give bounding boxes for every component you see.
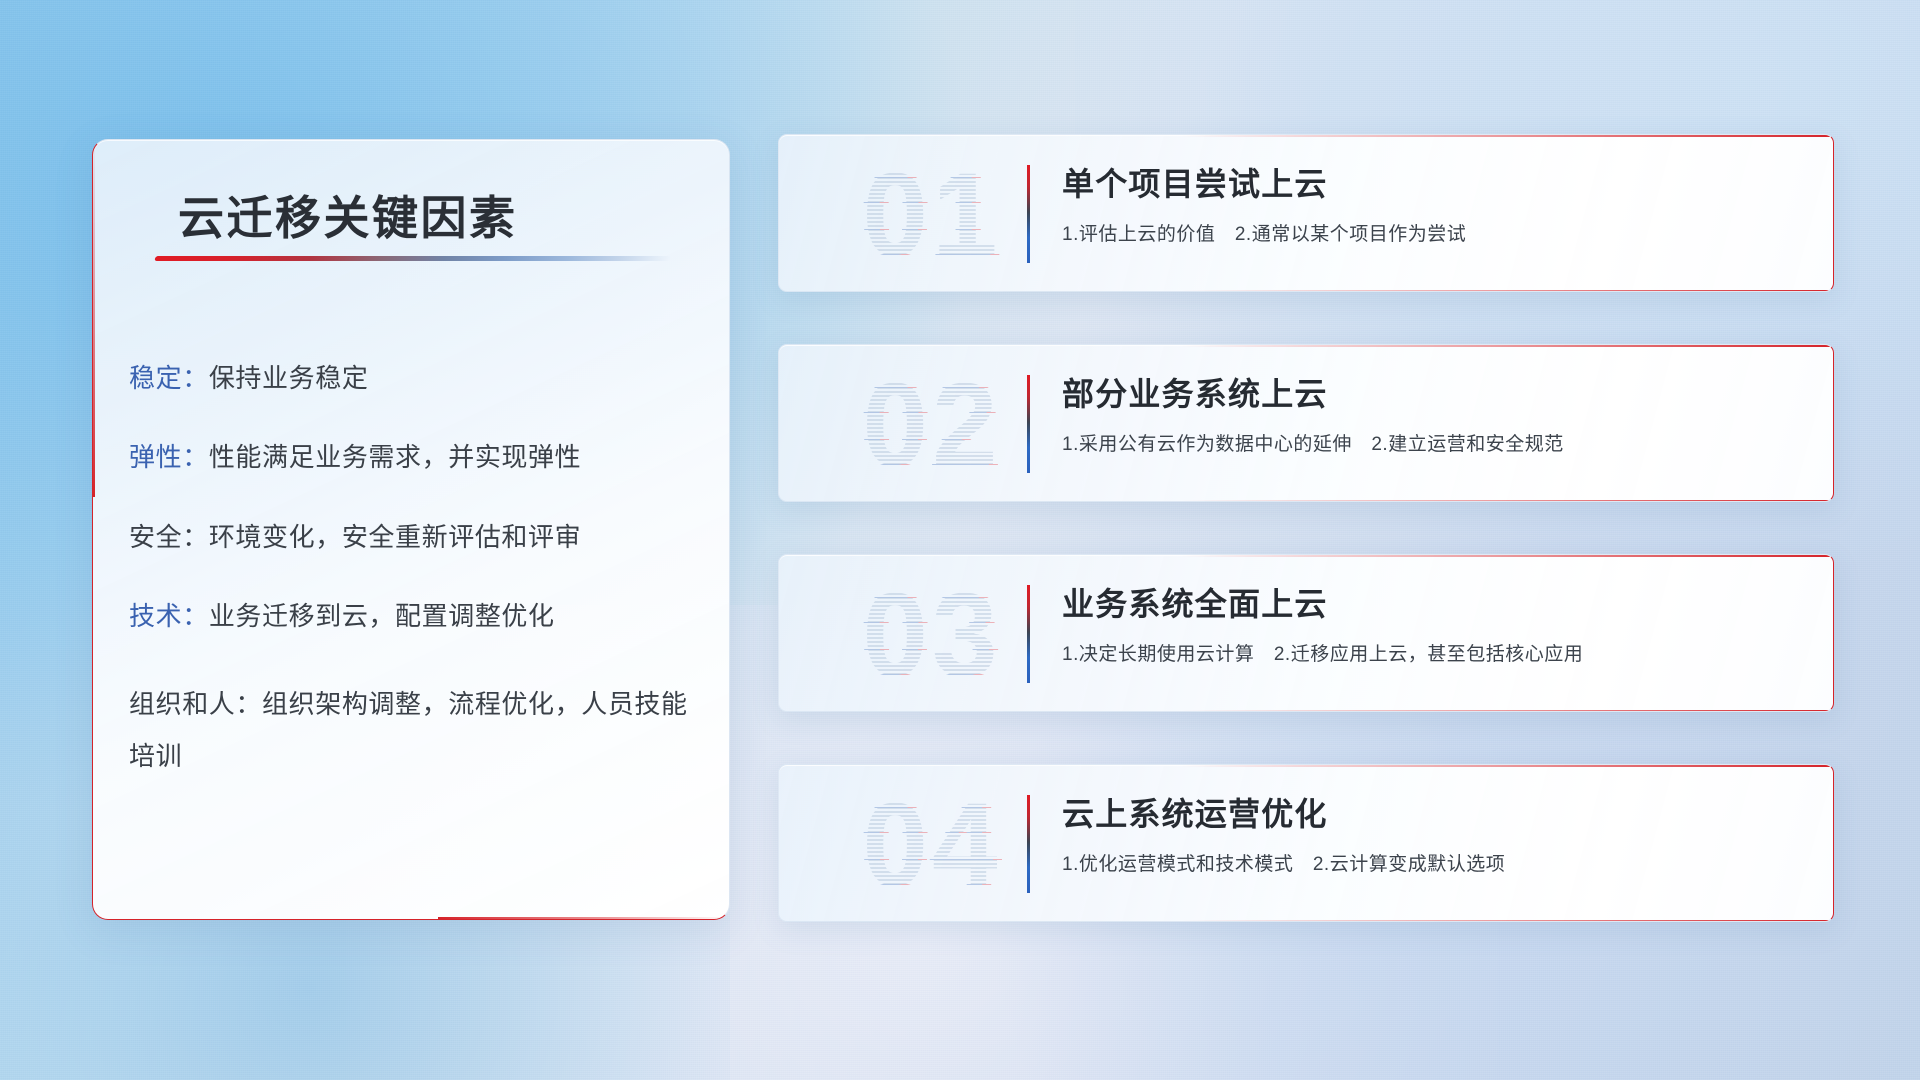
factor-item-elasticity: 弹性：性能满足业务需求，并实现弹性 [129,441,699,474]
factor-value: 保持业务稳定 [209,363,369,393]
step-number-ghost-blue: 03 [803,561,1053,709]
step-number-ghost-blue: 02 [803,351,1053,499]
step-divider-bar [1027,795,1030,893]
step-number-watermark-02: 02 02 02 [807,351,1057,499]
step-content: 云上系统运营优化 1.优化运营模式和技术模式 2.云计算变成默认选项 [1062,789,1809,876]
step-content: 单个项目尝试上云 1.评估上云的价值 2.通常以某个项目作为尝试 [1062,159,1809,246]
factor-label: 稳定： [129,363,209,393]
step-divider-bar [1027,585,1030,683]
factor-item-technology: 技术：业务迁移到云，配置调整优化 [129,600,699,633]
step-number-text: 02 [862,359,1001,491]
step-card-03[interactable]: 03 03 03 业务系统全面上云 1.决定长期使用云计算 2.迁移应用上云，甚… [778,554,1834,712]
factor-label: 弹性： [129,442,209,472]
factor-item-security: 安全：环境变化，安全重新评估和评审 [129,521,699,554]
step-number-text: 01 [862,149,1001,281]
factor-value: 业务迁移到云，配置调整优化 [209,601,555,631]
step-divider-bar [1027,165,1030,263]
step-number-watermark-04: 04 04 04 [807,771,1057,919]
slide-stage: 云迁移关键因素 稳定：保持业务稳定 弹性：性能满足业务需求，并实现弹性 安全：环… [0,0,1920,1080]
page-title: 云迁移关键因素 [178,182,518,248]
factor-label: 安全： [129,522,209,552]
key-factors-list: 稳定：保持业务稳定 弹性：性能满足业务需求，并实现弹性 安全：环境变化，安全重新… [129,362,699,828]
step-number-watermark-03: 03 03 03 [807,561,1057,709]
step-number-text: 03 [862,569,1001,701]
factor-value: 性能满足业务需求，并实现弹性 [209,442,581,472]
step-divider-bar [1027,375,1030,473]
migration-stage-cards: 01 01 01 单个项目尝试上云 1.评估上云的价值 2.通常以某个项目作为尝… [778,134,1834,974]
step-number-ghost-red: 02 [812,351,1062,499]
step-description: 1.决定长期使用云计算 2.迁移应用上云，甚至包括核心应用 [1062,639,1809,666]
key-factors-panel: 云迁移关键因素 稳定：保持业务稳定 弹性：性能满足业务需求，并实现弹性 安全：环… [92,139,730,920]
step-content: 部分业务系统上云 1.采用公有云作为数据中心的延伸 2.建立运营和安全规范 [1062,369,1809,456]
factor-item-stability: 稳定：保持业务稳定 [129,362,699,395]
step-card-02[interactable]: 02 02 02 部分业务系统上云 1.采用公有云作为数据中心的延伸 2.建立运… [778,344,1834,502]
factor-value: 环境变化，安全重新评估和评审 [209,522,581,552]
step-card-04[interactable]: 04 04 04 云上系统运营优化 1.优化运营模式和技术模式 2.云计算变成默… [778,764,1834,922]
step-number-ghost-blue: 01 [803,141,1053,289]
step-description: 1.采用公有云作为数据中心的延伸 2.建立运营和安全规范 [1062,429,1809,456]
step-title: 部分业务系统上云 [1062,369,1809,415]
factor-label: 组织和人： [129,689,262,719]
step-number-text: 04 [862,779,1001,911]
factor-item-organization-people: 组织和人：组织架构调整，流程优化，人员技能培训 [129,679,699,782]
step-number-ghost-red: 03 [812,561,1062,709]
step-number-ghost-red: 01 [812,141,1062,289]
step-number-ghost-blue: 04 [803,771,1053,919]
step-title: 单个项目尝试上云 [1062,159,1809,205]
step-description: 1.评估上云的价值 2.通常以某个项目作为尝试 [1062,219,1809,246]
step-content: 业务系统全面上云 1.决定长期使用云计算 2.迁移应用上云，甚至包括核心应用 [1062,579,1809,666]
title-underline-rule [154,256,672,261]
factor-label: 技术： [129,601,209,631]
step-description: 1.优化运营模式和技术模式 2.云计算变成默认选项 [1062,849,1809,876]
step-number-ghost-red: 04 [812,771,1062,919]
step-title: 业务系统全面上云 [1062,579,1809,625]
step-number-watermark-01: 01 01 01 [807,141,1057,289]
step-card-01[interactable]: 01 01 01 单个项目尝试上云 1.评估上云的价值 2.通常以某个项目作为尝… [778,134,1834,292]
step-title: 云上系统运营优化 [1062,789,1809,835]
